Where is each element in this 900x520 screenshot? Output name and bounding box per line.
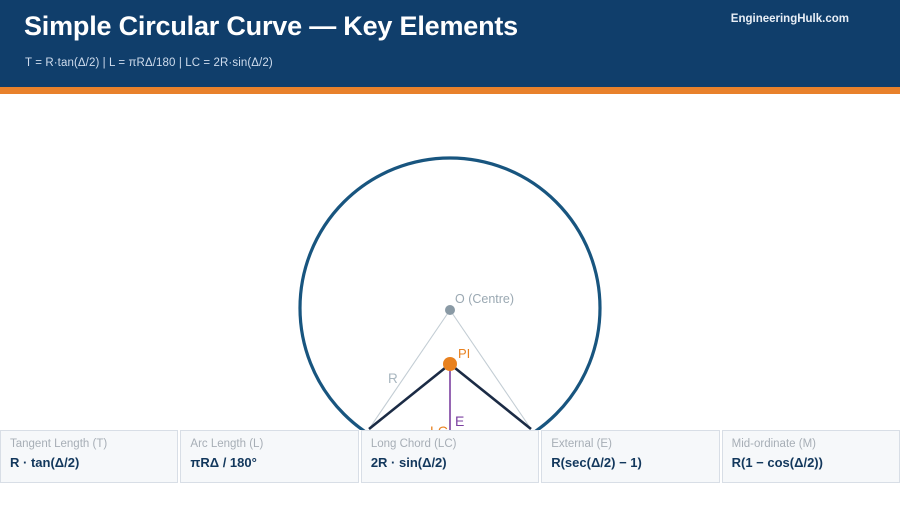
- card-formula: R · tan(Δ/2): [10, 454, 168, 472]
- tangent-line-back: [369, 364, 450, 429]
- pi-label: PI: [458, 346, 470, 361]
- long-chord-label: LC: [430, 423, 448, 430]
- card-label: Long Chord (LC): [371, 437, 529, 452]
- formula-card-external[interactable]: External (E) R(sec(Δ/2) − 1): [541, 430, 719, 483]
- centre-point-dot: [445, 305, 455, 315]
- radius-line-left: [369, 310, 450, 429]
- card-label: Arc Length (L): [190, 437, 348, 452]
- card-formula: R(1 − cos(Δ/2)): [732, 454, 890, 472]
- formula-card-long-chord[interactable]: Long Chord (LC) 2R · sin(Δ/2): [361, 430, 539, 483]
- radius-label: R: [388, 371, 398, 386]
- formula-card-arc-length[interactable]: Arc Length (L) πRΔ / 180°: [180, 430, 358, 483]
- formula-card-mid-ordinate[interactable]: Mid-ordinate (M) R(1 − cos(Δ/2)): [722, 430, 900, 483]
- card-formula: 2R · sin(Δ/2): [371, 454, 529, 472]
- curve-diagram: O (Centre) PI R E LC: [0, 94, 900, 430]
- external-label: E: [455, 413, 464, 429]
- card-formula: πRΔ / 180°: [190, 454, 348, 472]
- pi-point-dot: [443, 357, 457, 371]
- card-formula: R(sec(Δ/2) − 1): [551, 454, 709, 472]
- centre-label: O (Centre): [455, 292, 514, 306]
- card-label: External (E): [551, 437, 709, 452]
- curve-diagram-svg: O (Centre) PI R E LC: [0, 0, 900, 430]
- card-label: Mid-ordinate (M): [732, 437, 890, 452]
- card-label: Tangent Length (T): [10, 437, 168, 452]
- formula-card-tangent-length[interactable]: Tangent Length (T) R · tan(Δ/2): [0, 430, 178, 483]
- formula-card-row: Tangent Length (T) R · tan(Δ/2) Arc Leng…: [0, 430, 900, 483]
- radius-line-right: [450, 310, 531, 429]
